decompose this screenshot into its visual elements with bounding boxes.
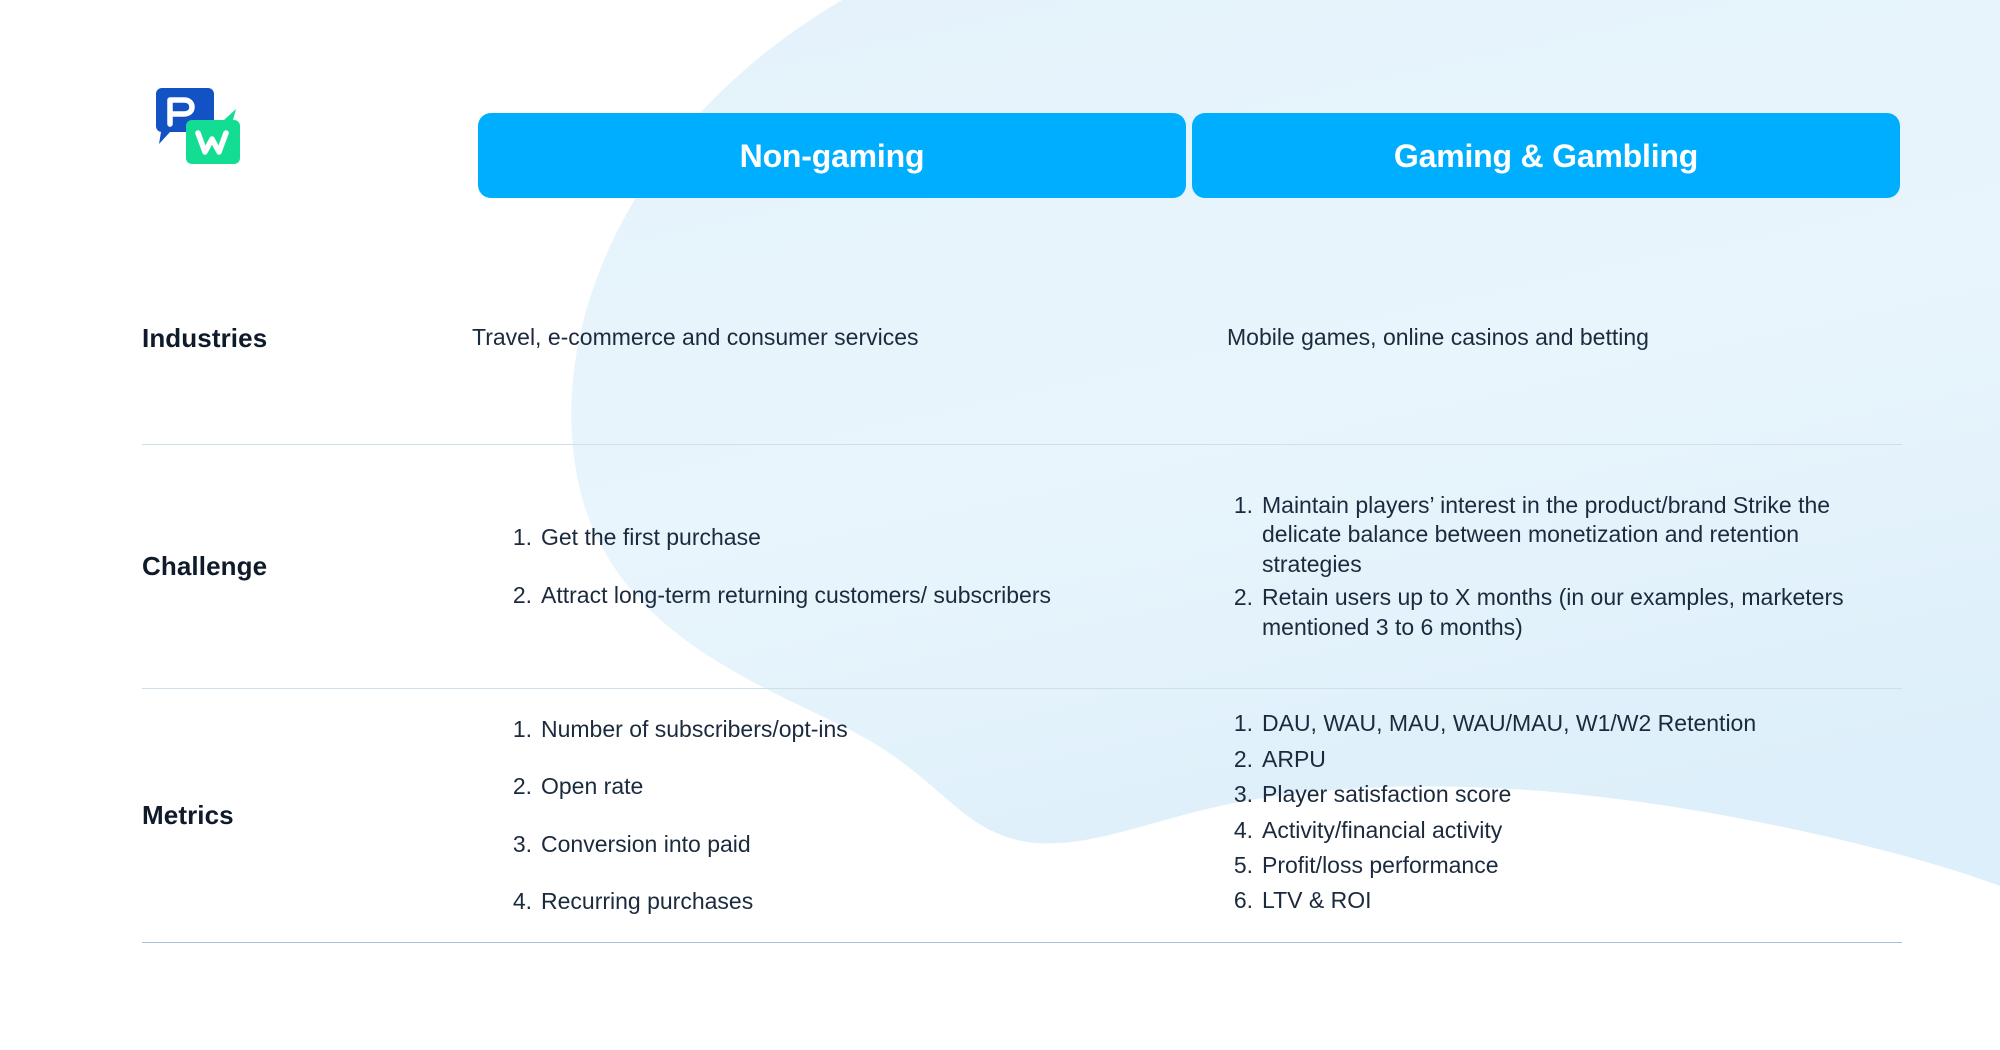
tab-non-gaming[interactable]: Non-gaming xyxy=(478,113,1186,198)
list-item-text: Activity/financial activity xyxy=(1262,816,1902,845)
list-item-number: 2. xyxy=(506,768,532,805)
challenge-gaming-list: 1. Maintain players’ interest in the pro… xyxy=(1227,491,1902,642)
list-item-number: 1. xyxy=(1227,491,1253,579)
list-item-text: Maintain players’ interest in the produc… xyxy=(1262,491,1902,579)
list-item: 2. Attract long-term returning customers… xyxy=(506,577,1163,614)
row-label-challenge: Challenge xyxy=(142,551,472,582)
list-item: 4. Recurring purchases xyxy=(506,883,1163,920)
list-item-text: Open rate xyxy=(541,768,1163,805)
metrics-gaming-list: 1. DAU, WAU, MAU, WAU/MAU, W1/W2 Retenti… xyxy=(1227,709,1902,916)
cell-industries-gaming: Mobile games, online casinos and betting xyxy=(1187,322,1902,353)
list-item-number: 4. xyxy=(1227,816,1253,845)
cell-challenge-non-gaming: 1. Get the first purchase 2. Attract lon… xyxy=(472,519,1187,614)
table-row-challenge: Challenge 1. Get the first purchase 2. A… xyxy=(142,444,1902,688)
metrics-non-gaming-list: 1. Number of subscribers/opt-ins 2. Open… xyxy=(472,711,1163,920)
list-item: 3. Player satisfaction score xyxy=(1227,780,1902,809)
list-item-text: Profit/loss performance xyxy=(1262,851,1902,880)
list-item-text: Player satisfaction score xyxy=(1262,780,1902,809)
list-item: 6. LTV & ROI xyxy=(1227,886,1902,915)
comparison-table: Industries Travel, e-commerce and consum… xyxy=(142,232,1902,943)
list-item-number: 2. xyxy=(506,577,532,614)
tab-gaming-gambling[interactable]: Gaming & Gambling xyxy=(1192,113,1900,198)
list-item: 1. Number of subscribers/opt-ins xyxy=(506,711,1163,748)
list-item-number: 5. xyxy=(1227,851,1253,880)
list-item: 4. Activity/financial activity xyxy=(1227,816,1902,845)
pushwoosh-logo-icon[interactable] xyxy=(146,88,244,166)
industries-gaming-text: Mobile games, online casinos and betting xyxy=(1227,322,1902,353)
list-item-number: 1. xyxy=(506,519,532,556)
list-item-text: LTV & ROI xyxy=(1262,886,1902,915)
list-item-number: 3. xyxy=(1227,780,1253,809)
list-item-text: Number of subscribers/opt-ins xyxy=(541,711,1163,748)
table-row-industries: Industries Travel, e-commerce and consum… xyxy=(142,232,1902,444)
challenge-non-gaming-list: 1. Get the first purchase 2. Attract lon… xyxy=(472,519,1163,614)
list-item: 2. Open rate xyxy=(506,768,1163,805)
cell-industries-non-gaming: Travel, e-commerce and consumer services xyxy=(472,322,1187,353)
column-header-tabs: Non-gaming Gaming & Gambling xyxy=(478,113,1900,198)
row-label-industries: Industries xyxy=(142,323,472,354)
list-item: 1. Get the first purchase xyxy=(506,519,1163,556)
comparison-table-slide: Non-gaming Gaming & Gambling Industries … xyxy=(0,0,2000,1050)
tab-gaming-gambling-label: Gaming & Gambling xyxy=(1394,140,1698,172)
list-item-number: 4. xyxy=(506,883,532,920)
list-item-number: 3. xyxy=(506,826,532,863)
table-row-metrics: Metrics 1. Number of subscribers/opt-ins… xyxy=(142,688,1902,943)
list-item-number: 2. xyxy=(1227,583,1253,642)
list-item: 2. Retain users up to X months (in our e… xyxy=(1227,583,1902,642)
list-item: 3. Conversion into paid xyxy=(506,826,1163,863)
list-item: 2. ARPU xyxy=(1227,745,1902,774)
list-item: 5. Profit/loss performance xyxy=(1227,851,1902,880)
list-item-text: Retain users up to X months (in our exam… xyxy=(1262,583,1902,642)
list-item-text: ARPU xyxy=(1262,745,1902,774)
cell-metrics-non-gaming: 1. Number of subscribers/opt-ins 2. Open… xyxy=(472,711,1187,920)
tab-non-gaming-label: Non-gaming xyxy=(740,140,925,172)
list-item-text: Get the first purchase xyxy=(541,519,1163,556)
list-item-text: Recurring purchases xyxy=(541,883,1163,920)
list-item-number: 2. xyxy=(1227,745,1253,774)
row-label-metrics: Metrics xyxy=(142,800,472,831)
list-item-number: 1. xyxy=(506,711,532,748)
industries-non-gaming-text: Travel, e-commerce and consumer services xyxy=(472,322,1163,353)
list-item-number: 1. xyxy=(1227,709,1253,738)
cell-challenge-gaming: 1. Maintain players’ interest in the pro… xyxy=(1187,491,1902,642)
list-item-text: Attract long-term returning customers/ s… xyxy=(541,577,1163,614)
list-item-text: Conversion into paid xyxy=(541,826,1163,863)
list-item: 1. DAU, WAU, MAU, WAU/MAU, W1/W2 Retenti… xyxy=(1227,709,1902,738)
list-item-number: 6. xyxy=(1227,886,1253,915)
list-item-text: DAU, WAU, MAU, WAU/MAU, W1/W2 Retention xyxy=(1262,709,1902,738)
cell-metrics-gaming: 1. DAU, WAU, MAU, WAU/MAU, W1/W2 Retenti… xyxy=(1187,709,1902,922)
list-item: 1. Maintain players’ interest in the pro… xyxy=(1227,491,1902,579)
